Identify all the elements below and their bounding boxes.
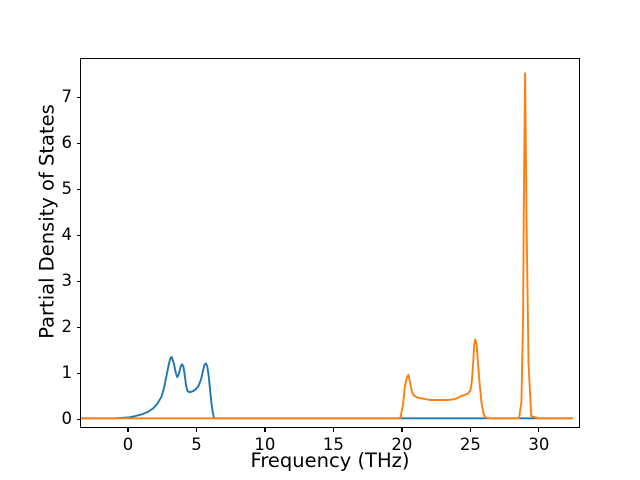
x-tick-mark: [470, 428, 471, 432]
y-tick-label: 4: [62, 224, 73, 246]
x-tick-mark: [264, 428, 265, 432]
y-tick-label: 5: [62, 178, 73, 200]
x-tick-mark: [196, 428, 197, 432]
y-tick-label: 3: [62, 270, 73, 292]
x-tick-mark: [127, 428, 128, 432]
y-tick-label: 6: [62, 132, 73, 154]
y-tick-label: 7: [62, 86, 73, 108]
series-line-series_2: [81, 73, 572, 418]
x-tick-mark: [333, 428, 334, 432]
x-tick-mark: [401, 428, 402, 432]
plot-area: [80, 58, 580, 428]
y-axis-label: Partial Density of States: [36, 37, 59, 407]
x-tick-mark: [538, 428, 539, 432]
y-tick-label: 2: [62, 316, 73, 338]
curve-svg: [81, 59, 579, 427]
series-line-series_1: [81, 357, 572, 418]
matplotlib-figure: 01234567 051015202530 Frequency (THz) Pa…: [0, 0, 640, 480]
x-axis-label: Frequency (THz): [80, 449, 580, 472]
y-tick-label: 0: [62, 408, 73, 430]
y-tick-label: 1: [62, 362, 73, 384]
